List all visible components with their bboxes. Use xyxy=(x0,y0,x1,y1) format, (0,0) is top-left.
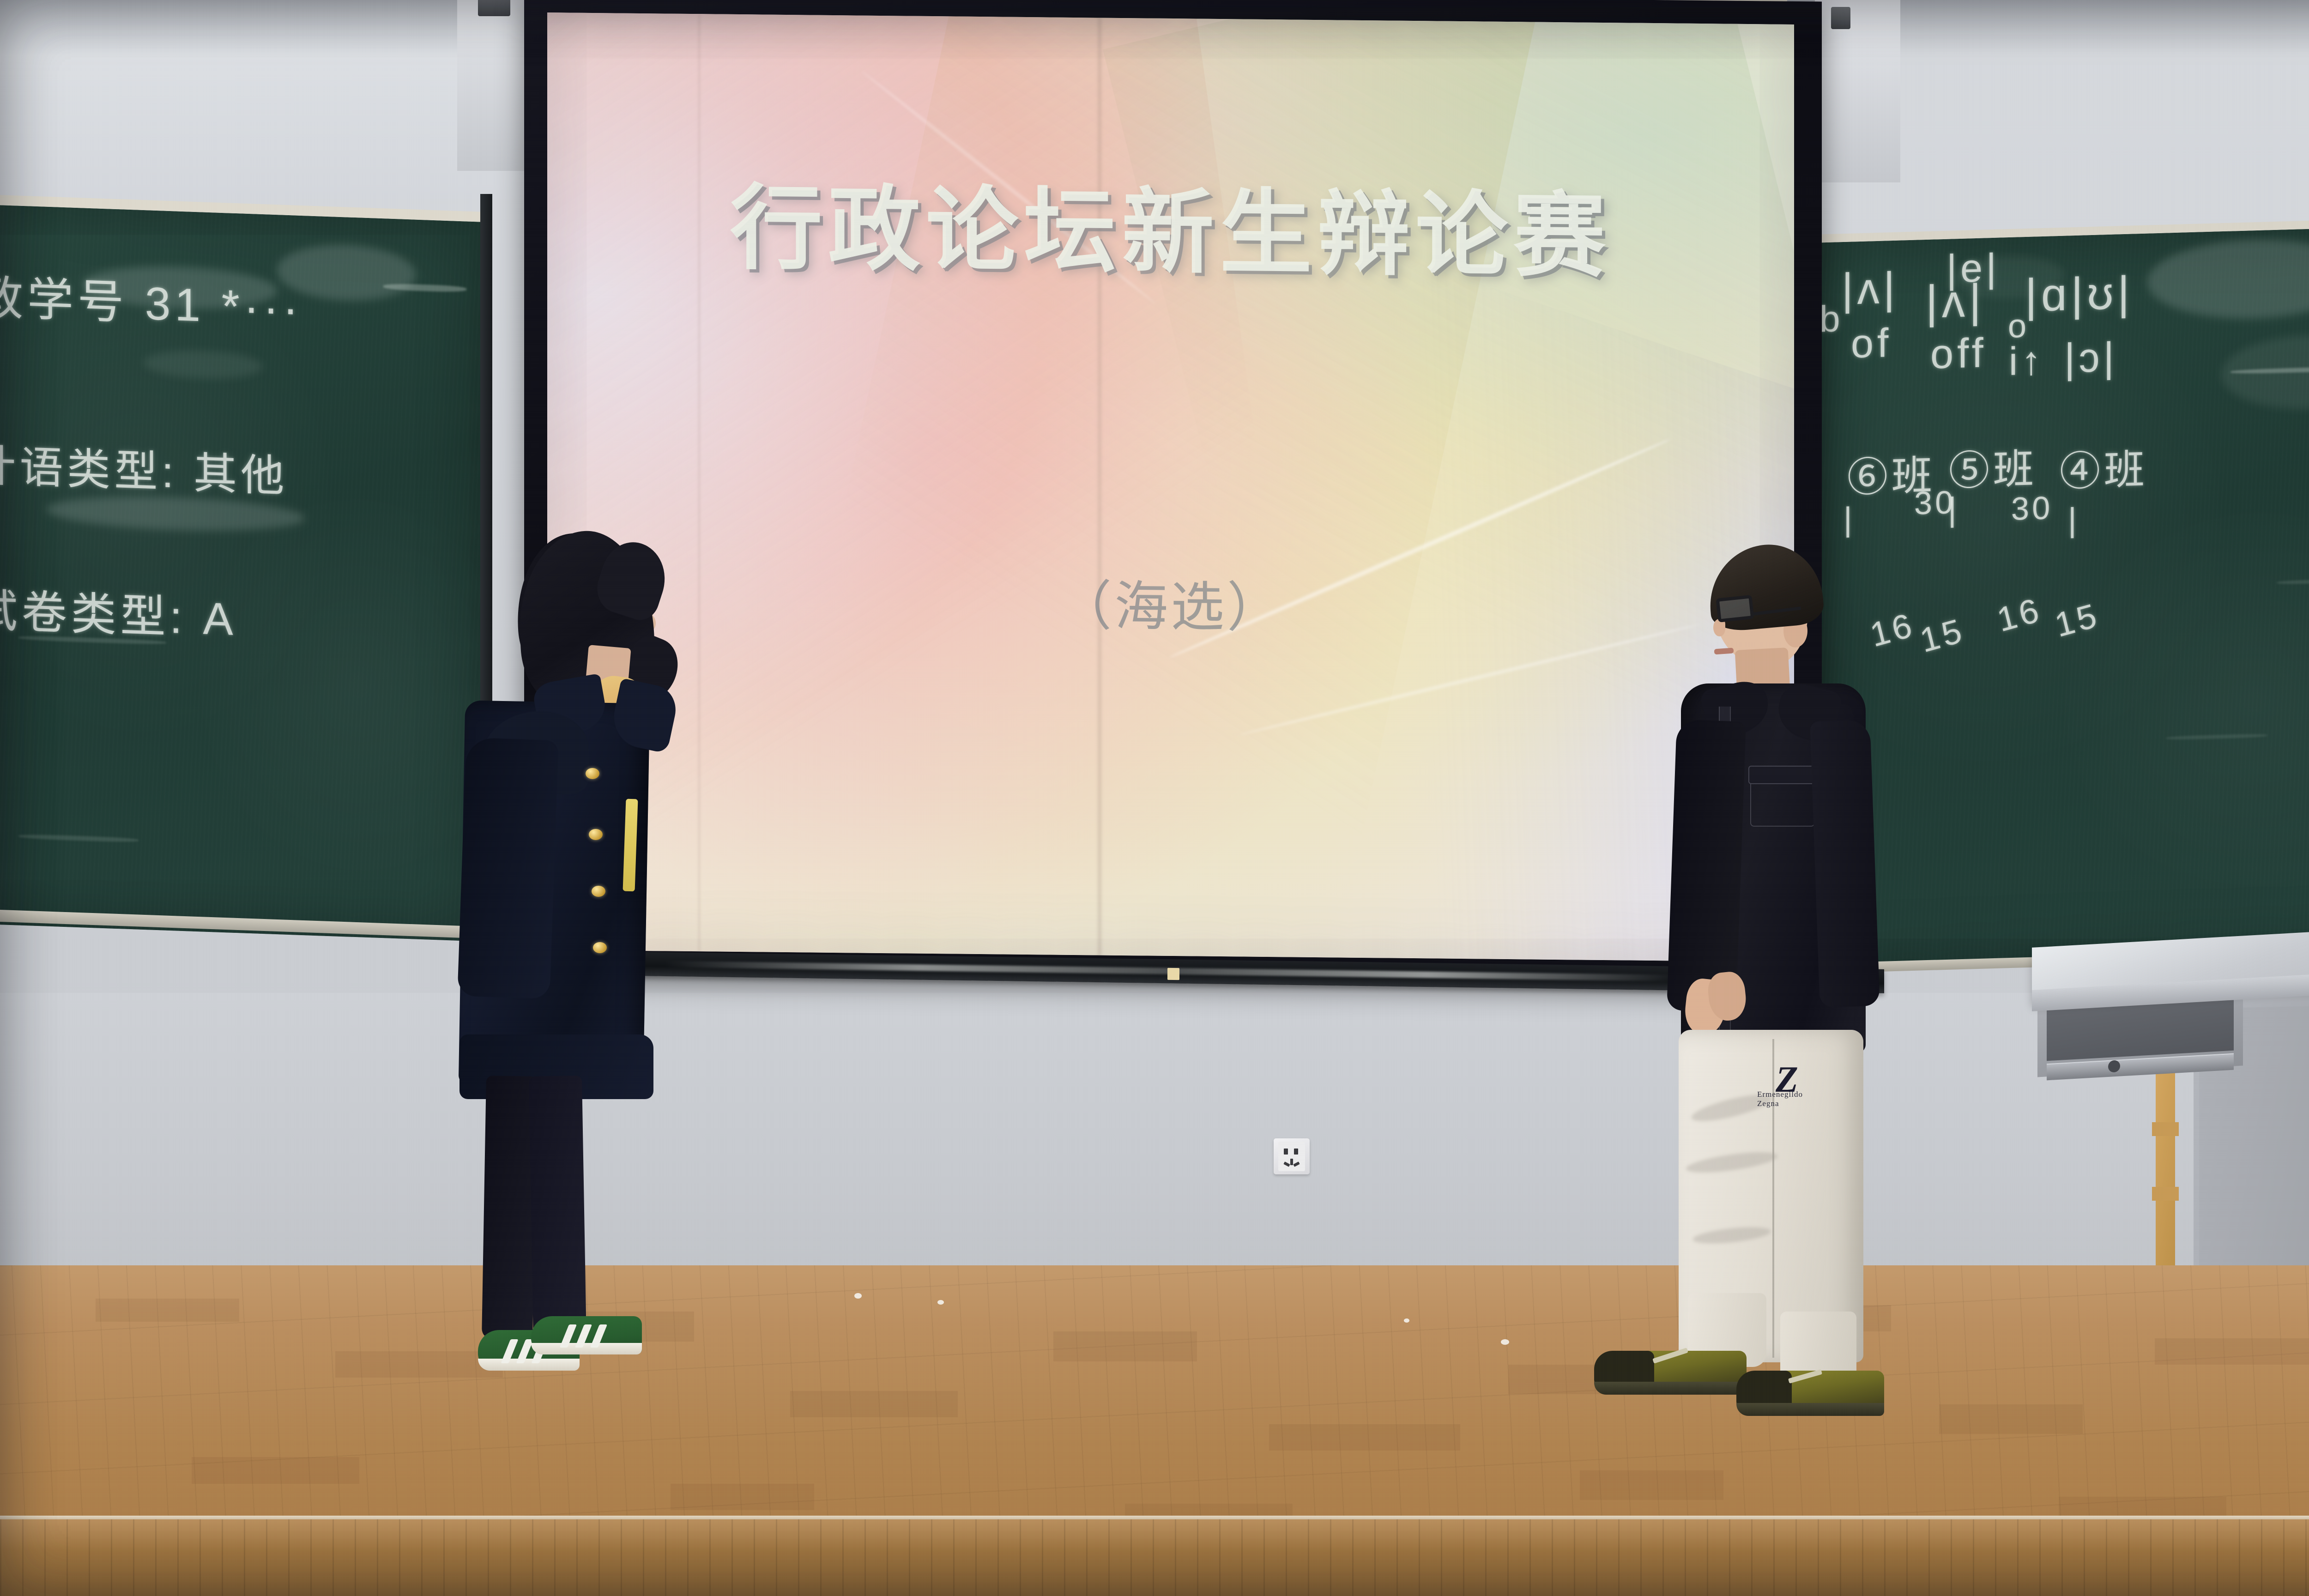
floor-debris-2 xyxy=(937,1300,944,1305)
female-leg-left xyxy=(482,1076,537,1340)
male-arm-far xyxy=(1810,719,1880,1008)
chalk-line-right-6: o xyxy=(2008,307,2030,345)
blackboard-right: b |ʌ| of |e| |ʌ| off o |ɑ|ʊ| i↑ |ɔ| ⑥班 3… xyxy=(1815,218,2309,964)
coat-button-2 xyxy=(589,829,603,840)
wall-socket-face xyxy=(1278,1142,1305,1171)
sweatpants-logo-subtext: Ermenegildo Zegna xyxy=(1757,1090,1803,1108)
chalk-line-right-1: |ʌ| xyxy=(1842,263,1899,315)
wall-socket[interactable] xyxy=(1274,1138,1310,1174)
chalk-num-16b: 16 xyxy=(1993,590,2045,640)
socket-slot-top-left xyxy=(1284,1149,1288,1155)
female-shoe-right-sole xyxy=(531,1343,642,1354)
coat-button-1 xyxy=(586,768,599,779)
chalk-class-4: ④班 xyxy=(2060,437,2148,498)
socket-slot-top-right xyxy=(1294,1149,1298,1155)
floor-debris-4 xyxy=(1404,1318,1409,1323)
classroom-scene: 政学号 31 *··· 计语类型: 其他 试卷类型: A b |ʌ| of |e… xyxy=(0,0,2309,1596)
chalk-class-5: ⑤班 xyxy=(1949,436,2037,497)
stage-front-grain xyxy=(0,1519,2309,1596)
chalk-count-6: 30 xyxy=(1914,484,1956,522)
chalk-tick-2: | xyxy=(1948,490,1959,529)
slide-subtitle: （海选） xyxy=(547,557,1794,647)
female-arm xyxy=(457,738,558,999)
male-glasses-lens xyxy=(1716,595,1754,623)
wooden-cross-bar-2 xyxy=(2152,1187,2179,1201)
chalk-line-left-2: 试卷类型: A xyxy=(0,574,237,648)
chalk-line-right-5: off xyxy=(1930,329,1987,378)
chalk-num-16a: 16 xyxy=(1866,605,1918,655)
male-arm-near xyxy=(1667,719,1746,1013)
screen-mount-right xyxy=(1815,0,1900,182)
chalk-line-left-1: 计语类型: 其他 xyxy=(0,430,288,504)
chalk-line-right-2: of xyxy=(1851,319,1892,367)
chalk-line-right-3: |e| xyxy=(1946,245,2000,292)
chalk-line-right-4: |ʌ| xyxy=(1926,274,1985,329)
chalk-line-right-7: |ɑ|ʊ| xyxy=(2025,266,2134,322)
chalk-piece[interactable] xyxy=(1167,968,1179,980)
chalk-line-right-9: |ɔ| xyxy=(2064,333,2118,382)
male-jacket-pocket-flap xyxy=(1748,766,1818,784)
chalk-tick-3: | xyxy=(2068,501,2079,539)
chalk-count-5: 30 xyxy=(2011,489,2053,527)
wooden-cross-bar-1 xyxy=(2152,1122,2179,1136)
chalk-line-right-0: b xyxy=(1819,297,1844,340)
coat-button-3 xyxy=(592,886,605,897)
floor-debris-1 xyxy=(854,1293,862,1299)
floor-debris-3 xyxy=(1501,1339,1509,1345)
female-shoe-left-sole xyxy=(478,1359,580,1371)
female-leg-right xyxy=(529,1076,586,1344)
chalk-num-15a: 15 xyxy=(1916,611,1968,660)
chalk-tick-1: | xyxy=(1844,500,1855,538)
coat-button-4 xyxy=(593,942,607,953)
blackboard-left: 政学号 31 *··· 计语类型: 其他 试卷类型: A xyxy=(0,194,480,941)
chalk-class-6: ⑥班 xyxy=(1847,442,1936,503)
slide-title: 行政论坛新生辩论赛 xyxy=(547,151,1794,297)
screen-mount-hook-left xyxy=(478,0,510,16)
chalk-line-right-8: i↑ xyxy=(2009,338,2045,385)
male-shoe-left-sole xyxy=(1594,1382,1747,1395)
projection-screen-surface: 行政论坛新生辩论赛 （海选） xyxy=(547,12,1794,962)
stage-front-face xyxy=(0,1519,2309,1596)
chalk-line-left-0: 政学号 31 *··· xyxy=(0,260,302,338)
socket-slot-center xyxy=(1290,1159,1293,1165)
screen-mount-hook-right xyxy=(1831,7,1850,29)
male-shoe-right-sole xyxy=(1736,1403,1884,1416)
chalk-num-15b: 15 xyxy=(2051,595,2103,645)
